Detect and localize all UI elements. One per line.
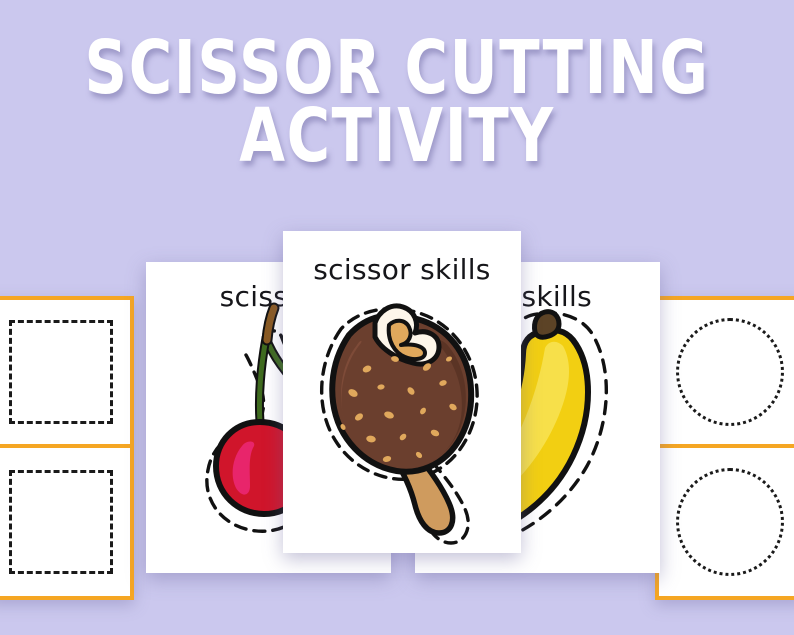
- ice-cream-scissor-card[interactable]: scissor skills: [283, 231, 521, 553]
- dotted-circle-shape: [676, 318, 784, 426]
- worksheet-cell-square-1[interactable]: [0, 300, 130, 448]
- title-line-1: SCISSOR CUTTING: [79, 34, 714, 102]
- poster-canvas: SCISSOR CUTTING ACTIVITY scissor: [0, 0, 794, 635]
- worksheet-cell-circle-2[interactable]: [659, 448, 794, 596]
- title-line-2: ACTIVITY: [79, 102, 714, 170]
- dashed-square-shape: [9, 320, 113, 424]
- worksheet-cell-square-2[interactable]: [0, 448, 130, 596]
- ice-cream-card-label: scissor skills: [283, 253, 521, 286]
- right-worksheet-card[interactable]: [655, 296, 794, 600]
- dashed-square-shape: [9, 470, 113, 574]
- page-title: SCISSOR CUTTING ACTIVITY: [0, 34, 794, 170]
- dotted-circle-shape: [676, 468, 784, 576]
- worksheet-cell-circle-1[interactable]: [659, 300, 794, 448]
- left-worksheet-card[interactable]: [0, 296, 134, 600]
